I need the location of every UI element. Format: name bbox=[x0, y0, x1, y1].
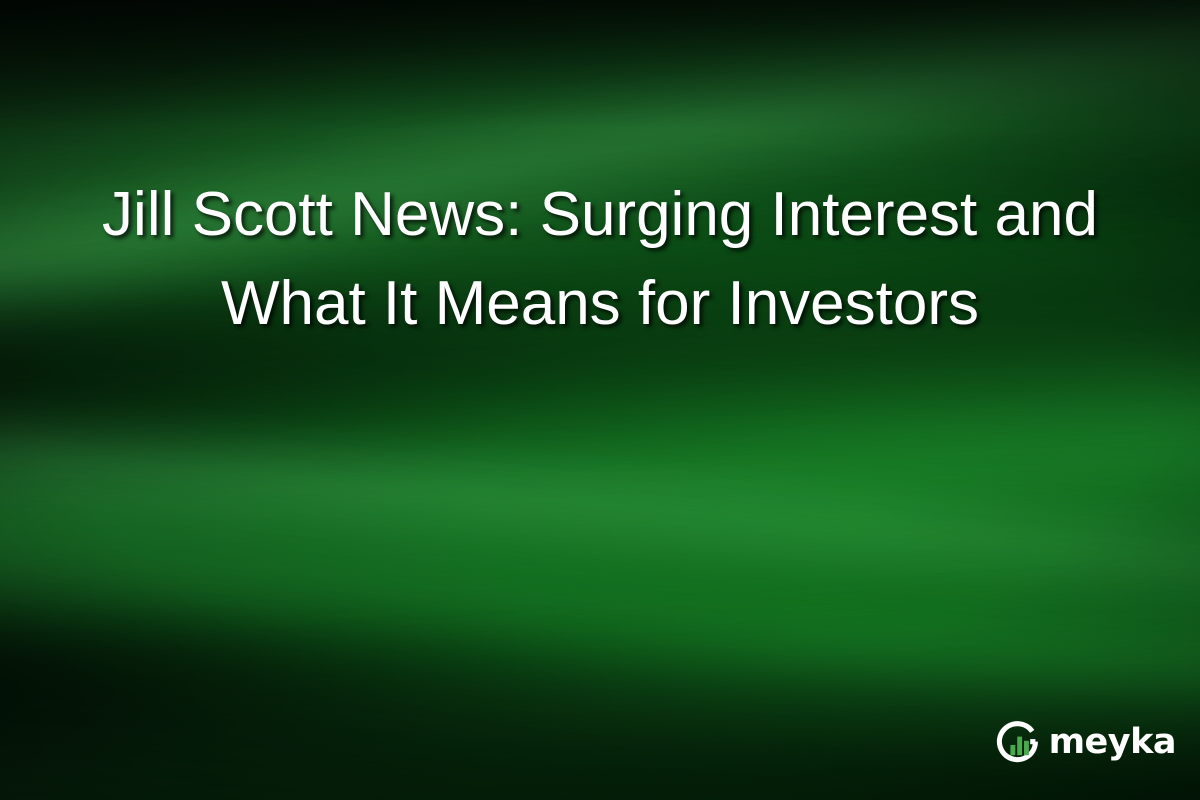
page-title: Jill Scott News: Surging Interest and Wh… bbox=[40, 170, 1160, 348]
background-vignette bbox=[0, 0, 1200, 800]
logo-bar-2 bbox=[1017, 737, 1022, 756]
headline-container: Jill Scott News: Surging Interest and Wh… bbox=[0, 170, 1200, 348]
article-banner: Jill Scott News: Surging Interest and Wh… bbox=[0, 0, 1200, 800]
logo-bar-3 bbox=[1024, 741, 1029, 755]
logo-bar-1 bbox=[1010, 745, 1015, 755]
meyka-logo-icon bbox=[994, 718, 1042, 766]
meyka-wordmark: meyka bbox=[1049, 725, 1176, 760]
meyka-logo[interactable]: meyka bbox=[994, 718, 1176, 766]
